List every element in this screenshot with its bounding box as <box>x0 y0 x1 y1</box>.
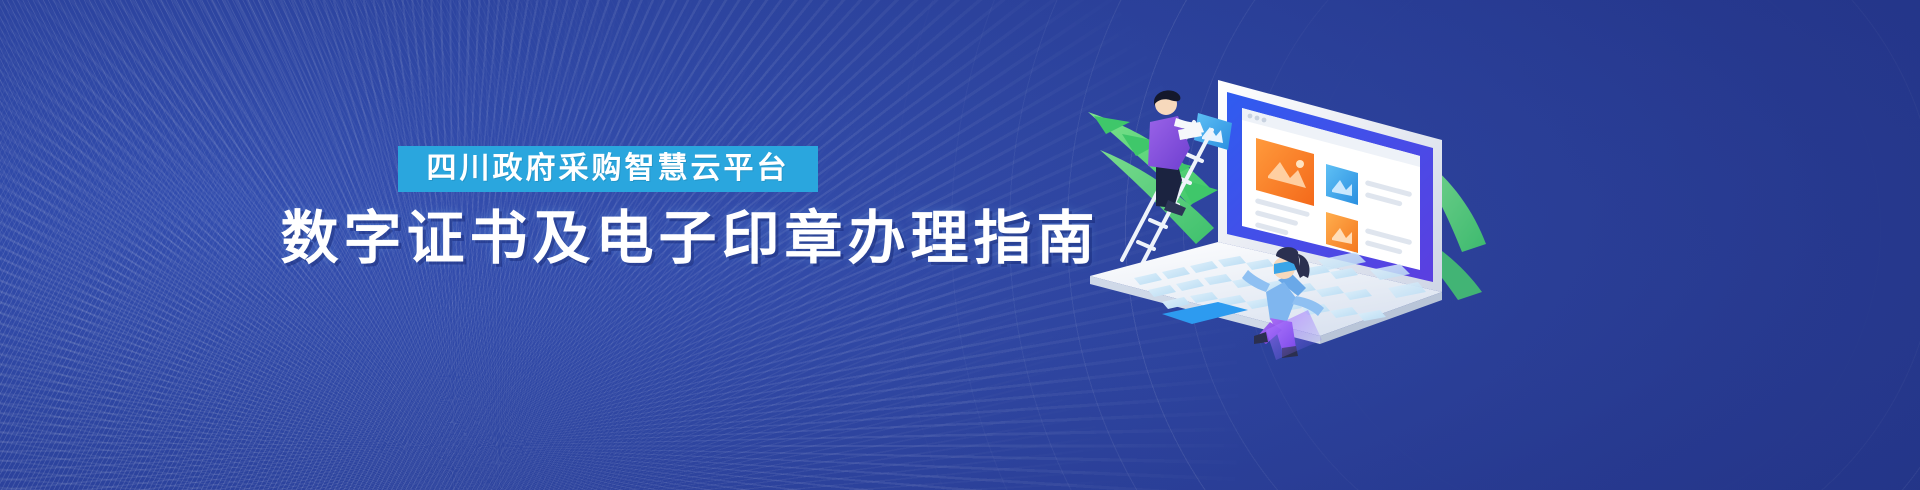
platform-tag-label: 四川政府采购智慧云平台 <box>427 154 790 184</box>
page-title: 数字证书及电子印章办理指南 <box>240 205 1140 273</box>
platform-tag: 四川政府采购智慧云平台 <box>398 146 818 192</box>
isometric-laptop-illustration <box>1070 30 1490 360</box>
text-block: 四川政府采购智慧云平台 数字证书及电子印章办理指南 <box>0 0 1180 490</box>
banner-root: 四川政府采购智慧云平台 数字证书及电子印章办理指南 <box>0 0 1920 490</box>
